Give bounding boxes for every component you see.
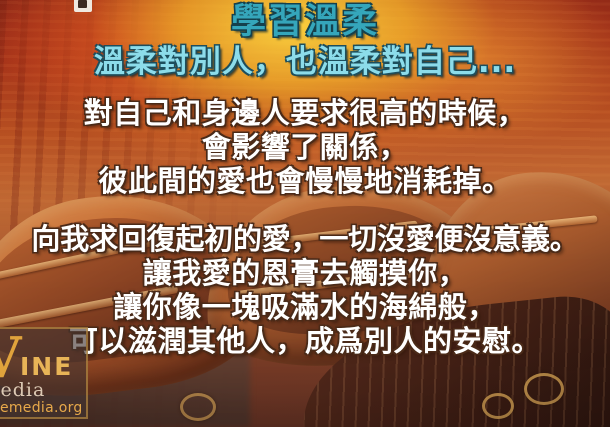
logo-wordmark: V INE [0,335,73,385]
logo-v-letter: V [0,335,18,385]
poster-subtitle: 溫柔對別人，也溫柔對自己... [0,47,610,78]
vine-media-logo: V INE Media vinemedia.org [0,327,88,419]
body-line: 讓我愛的恩膏去觸摸你， [0,256,610,290]
body-line: 向我求回復起初的愛，一切沒愛便沒意義。 [0,222,610,256]
poster-body: 對自己和身邊人要求很高的時候， 會影響了關係， 彼此間的愛也會慢慢地消耗掉。 向… [0,96,610,358]
body-line: 會影響了關係， [0,130,610,164]
body-line: 對自己和身邊人要求很高的時候， [0,96,610,130]
logo-url-text: vinemedia.org [0,400,83,416]
body-line: 彼此間的愛也會慢慢地消耗掉。 [0,164,610,198]
logo-media-text: Media [0,379,45,401]
poster-title: 學習溫柔 [0,5,610,40]
poster-image: 學習溫柔 溫柔對別人，也溫柔對自己... 對自己和身邊人要求很高的時候， 會影響… [0,0,610,427]
text-overlay: 學習溫柔 溫柔對別人，也溫柔對自己... 對自己和身邊人要求很高的時候， 會影響… [0,0,610,427]
body-line: 讓你像一塊吸滿水的海綿般， [0,290,610,324]
body-line: 可以滋潤其他人，成爲別人的安慰。 [0,324,610,358]
